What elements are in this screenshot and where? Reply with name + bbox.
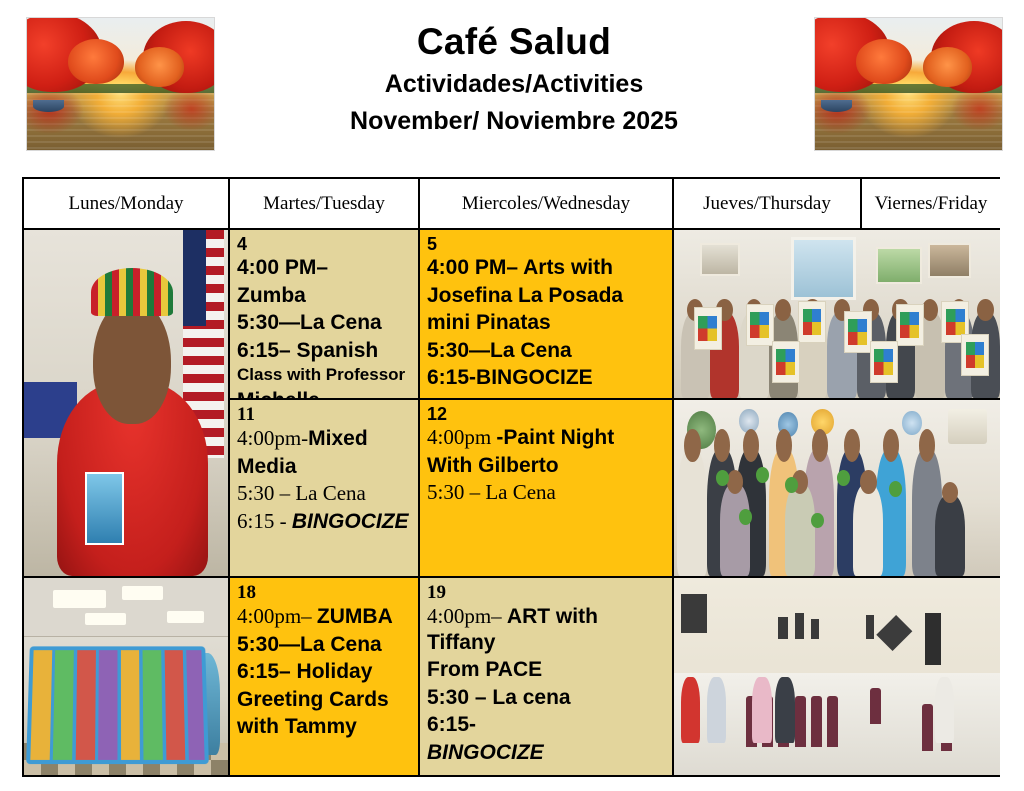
cell-wednesday-12: 12 4:00pm -Paint Night With Gilberto 5:3…	[420, 400, 674, 578]
cell-tuesday-4: 4 4:00 PM– Zumba 5:30—La Cena 6:15– Span…	[230, 230, 420, 400]
event-line: 6:15– Holiday	[237, 659, 412, 685]
day-header-tuesday: Martes/Tuesday	[230, 179, 420, 230]
subtitle-month: November/ Noviembre 2025	[224, 106, 804, 137]
cell-wednesday-19: 19 4:00pm– ART with Tiffany From PACE 5:…	[420, 578, 674, 775]
event-line: mini Pinatas	[427, 310, 666, 336]
day-number: 19	[427, 583, 666, 603]
event-line: Class with Professor	[237, 365, 412, 386]
event-line: With Gilberto	[427, 453, 666, 479]
day-number: 11	[237, 405, 412, 425]
event-line: Zumba	[237, 283, 412, 309]
event-line: 4:00 PM–	[237, 255, 412, 281]
event-line: 5:30 – La cena	[427, 685, 666, 711]
event-line: with Tammy	[237, 714, 412, 740]
event-line: 5:30—La Cena	[237, 632, 412, 658]
event-line: Media	[237, 454, 412, 480]
event-line: 5:30 – La Cena	[237, 481, 412, 507]
photo-woman-holding-quilt	[24, 578, 230, 775]
subtitle-activities: Actividades/Activities	[224, 69, 804, 100]
photo-group-holding-plants	[674, 400, 1000, 578]
title-block: Café Salud Actividades/Activities Novemb…	[224, 22, 804, 137]
day-header-friday: Viernes/Friday	[862, 179, 1000, 230]
autumn-lake-sunset-photo-left	[26, 17, 215, 151]
day-header-wednesday: Miercoles/Wednesday	[420, 179, 674, 230]
event-line: 4:00pm– ZUMBA	[237, 604, 412, 630]
cell-tuesday-11: 11 4:00pm-Mixed Media 5:30 – La Cena 6:1…	[230, 400, 420, 578]
event-line: 4:00 PM– Arts with	[427, 255, 666, 281]
day-number: 18	[237, 583, 412, 603]
event-line: From PACE	[427, 657, 666, 683]
event-line: 4:00pm– ART with Tiffany	[427, 604, 666, 655]
photo-exercise-class-hall	[674, 578, 1000, 775]
event-line: 5:30 – La Cena	[427, 480, 666, 506]
event-line: 6:15-	[427, 712, 666, 738]
event-line: 6:15– Spanish	[237, 338, 412, 364]
day-number: 4	[237, 235, 412, 254]
photo-man-in-red-shirt	[24, 230, 230, 578]
day-number: 12	[427, 405, 666, 424]
photo-group-holding-artwork	[674, 230, 1000, 400]
event-line: BINGOCIZE	[427, 740, 666, 766]
event-line: 6:15 - BINGOCIZE	[237, 509, 412, 535]
day-header-thursday: Jueves/Thursday	[674, 179, 862, 230]
page-title: Café Salud	[224, 22, 804, 63]
cell-wednesday-5: 5 4:00 PM– Arts with Josefina La Posada …	[420, 230, 674, 400]
calendar-grid: Lunes/Monday Martes/Tuesday Miercoles/We…	[22, 177, 1000, 777]
event-line: 4:00pm -Paint Night	[427, 425, 666, 451]
event-line: Josefina La Posada	[427, 283, 666, 309]
event-line: Greeting Cards	[237, 687, 412, 713]
cell-tuesday-18: 18 4:00pm– ZUMBA 5:30—La Cena 6:15– Holi…	[230, 578, 420, 775]
event-line: Michelle	[237, 388, 412, 400]
autumn-lake-sunset-photo-right	[814, 17, 1003, 151]
day-number: 5	[427, 235, 666, 254]
event-line: 5:30—La Cena	[427, 338, 666, 364]
event-line: 4:00pm-Mixed	[237, 426, 412, 452]
event-line: 6:15-BINGOCIZE	[427, 365, 666, 391]
day-header-monday: Lunes/Monday	[24, 179, 230, 230]
flyer-header: Café Salud Actividades/Activities Novemb…	[0, 0, 1024, 168]
event-line: 5:30—La Cena	[237, 310, 412, 336]
